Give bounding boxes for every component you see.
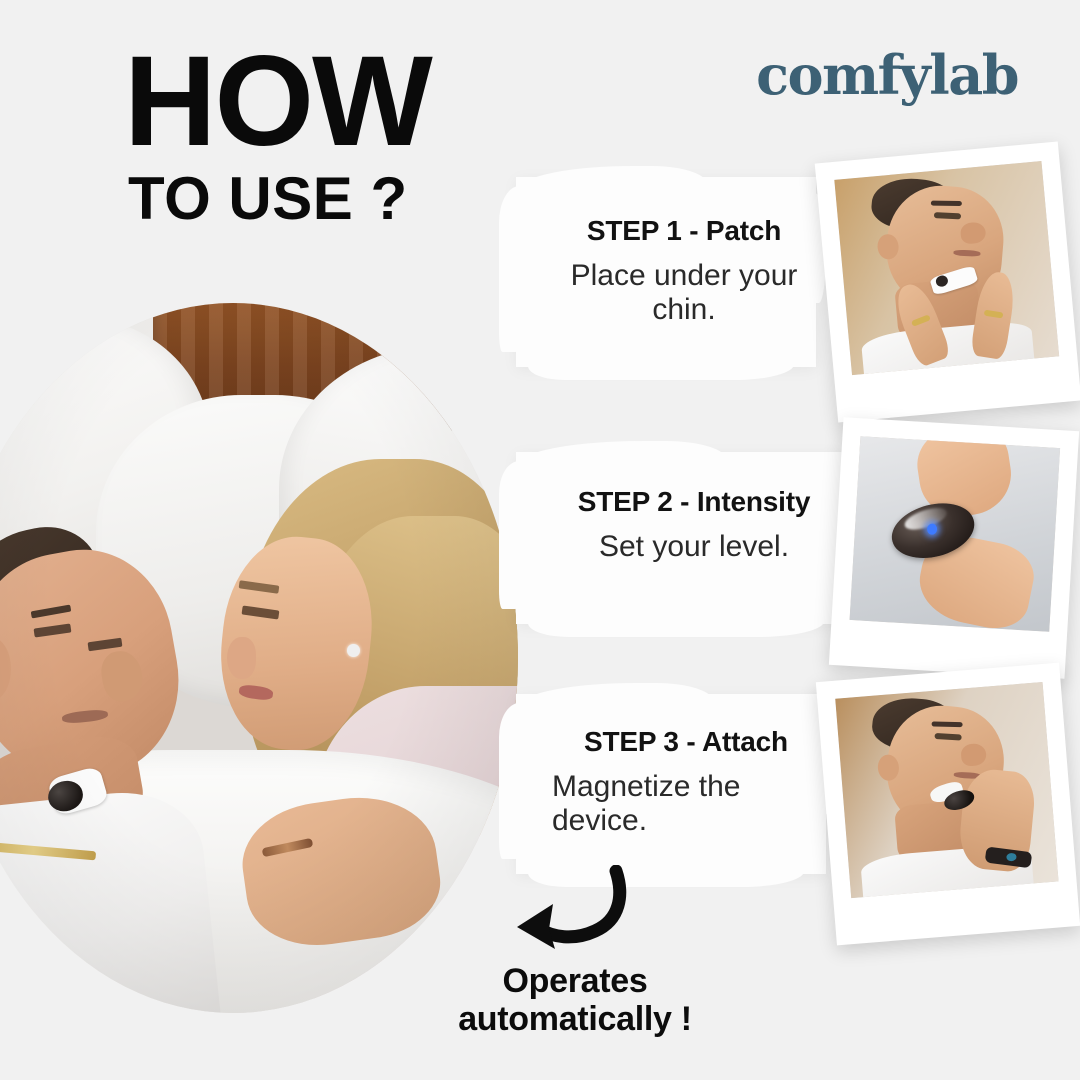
infographic-canvas: comfylab HOW TO USE ? bbox=[0, 0, 1080, 1080]
hero-vignette bbox=[0, 303, 518, 1013]
hero-photo-couple-sleeping bbox=[0, 303, 518, 1013]
step-card-2: STEP 2 - Intensity Set your level. bbox=[516, 452, 846, 624]
man-eyebrow bbox=[931, 721, 962, 727]
step-1-photo-image bbox=[834, 161, 1059, 375]
step-3-title: STEP 3 - Attach bbox=[546, 726, 826, 758]
step-card-1: STEP 1 - Patch Place under your chin. bbox=[516, 177, 816, 367]
hero-illustration bbox=[0, 303, 518, 1013]
step-card-2-content: STEP 2 - Intensity Set your level. bbox=[516, 452, 846, 564]
step-card-3: STEP 3 - Attach Magnetize the device. bbox=[516, 694, 826, 874]
brand-logo: comfylab bbox=[756, 48, 1018, 102]
step-1-polaroid-photo bbox=[815, 141, 1080, 422]
step-3-photo-image bbox=[835, 682, 1058, 898]
step-card-1-content: STEP 1 - Patch Place under your chin. bbox=[516, 177, 816, 326]
man-eyebrow bbox=[930, 201, 961, 207]
step-3-description: Magnetize the device. bbox=[546, 770, 826, 837]
step-2-polaroid-photo bbox=[829, 417, 1079, 679]
headline-line-1: HOW bbox=[124, 46, 431, 159]
step-2-title: STEP 2 - Intensity bbox=[542, 486, 846, 518]
page-title: HOW TO USE ? bbox=[124, 46, 431, 229]
footer-caption: Operates automatically ! bbox=[380, 962, 770, 1038]
footer-caption-line-1: Operates bbox=[380, 962, 770, 1000]
step-1-title: STEP 1 - Patch bbox=[552, 215, 816, 247]
step-card-3-content: STEP 3 - Attach Magnetize the device. bbox=[516, 694, 826, 837]
step-1-description: Place under your chin. bbox=[552, 259, 816, 326]
step-3-polaroid-photo bbox=[816, 663, 1080, 946]
footer-caption-line-2: automatically ! bbox=[380, 1000, 770, 1038]
step-2-photo-image bbox=[850, 436, 1061, 632]
step-2-description: Set your level. bbox=[542, 530, 846, 564]
headline-line-2: TO USE ? bbox=[128, 169, 431, 229]
curved-left-arrow-icon bbox=[495, 865, 631, 957]
